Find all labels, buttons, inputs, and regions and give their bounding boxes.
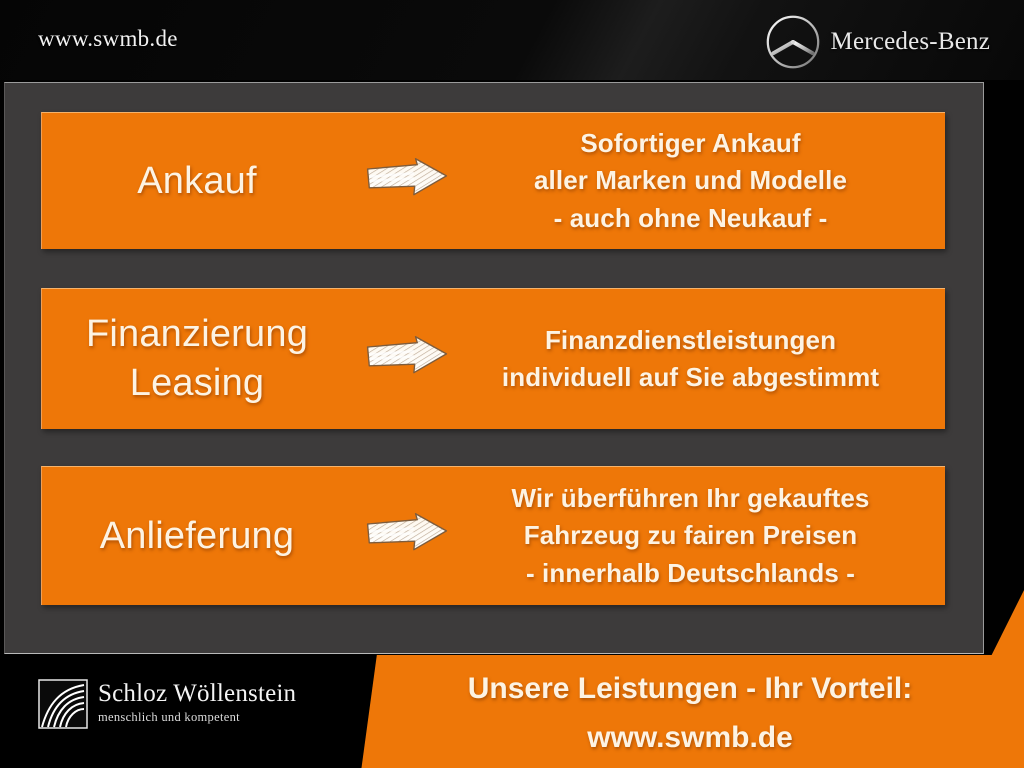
mercedes-benz-wordmark: Mercedes-Benz bbox=[831, 28, 990, 56]
header-bar: www.swmb.de bbox=[0, 0, 1024, 80]
footer-tagline: Unsere Leistungen - Ihr Vorteil: bbox=[380, 665, 1000, 714]
service-title: Ankauf bbox=[42, 157, 352, 206]
service-bar-finanzierung-leasing[interactable]: Finanzierung Leasing Finanzdienstleistun… bbox=[41, 288, 945, 429]
service-title: Anlieferung bbox=[42, 512, 352, 561]
service-description-line: aller Marken und Modelle bbox=[462, 162, 919, 199]
slide-root: www.swmb.de bbox=[0, 0, 1024, 768]
service-description-line: - auch ohne Neukauf - bbox=[462, 200, 919, 237]
sketch-arrow-right-icon bbox=[352, 157, 462, 205]
service-description-line: Sofortiger Ankauf bbox=[462, 125, 919, 162]
footer-bar: Schloz Wöllenstein menschlich und kompet… bbox=[0, 655, 1024, 768]
footer-tagline-block: Unsere Leistungen - Ihr Vorteil: www.swm… bbox=[380, 665, 1000, 762]
service-description-line: Fahrzeug zu fairen Preisen bbox=[462, 517, 919, 554]
header-website-url: www.swmb.de bbox=[38, 26, 178, 52]
service-description: Finanzdienstleistungen individuell auf S… bbox=[462, 322, 945, 397]
mercedes-star-icon bbox=[765, 14, 821, 70]
service-description-line: Finanzdienstleistungen bbox=[462, 322, 919, 359]
footer-website-url: www.swmb.de bbox=[380, 714, 1000, 763]
service-description-line: - innerhalb Deutschlands - bbox=[462, 555, 919, 592]
service-description: Wir überführen Ihr gekauftes Fahrzeug zu… bbox=[462, 480, 945, 592]
service-title: Finanzierung Leasing bbox=[42, 310, 352, 407]
service-description-line: individuell auf Sie abgestimmt bbox=[462, 359, 919, 396]
sketch-arrow-right-icon bbox=[352, 335, 462, 383]
dealer-name: Schloz Wöllenstein bbox=[98, 681, 296, 707]
schloz-woellenstein-arc-icon bbox=[38, 679, 88, 729]
dealer-claim: menschlich und kompetent bbox=[98, 710, 296, 725]
sketch-arrow-right-icon bbox=[352, 512, 462, 560]
services-panel: Ankauf bbox=[4, 82, 984, 654]
service-bar-anlieferung[interactable]: Anlieferung Wir überführen Ihr gekauftes… bbox=[41, 466, 945, 605]
service-description: Sofortiger Ankauf aller Marken und Model… bbox=[462, 125, 945, 237]
dealer-logo: Schloz Wöllenstein menschlich und kompet… bbox=[38, 679, 296, 729]
service-bar-ankauf[interactable]: Ankauf bbox=[41, 112, 945, 249]
dealer-logo-text: Schloz Wöllenstein menschlich und kompet… bbox=[98, 679, 296, 725]
service-description-line: Wir überführen Ihr gekauftes bbox=[462, 480, 919, 517]
mercedes-benz-logo: Mercedes-Benz bbox=[765, 14, 990, 70]
